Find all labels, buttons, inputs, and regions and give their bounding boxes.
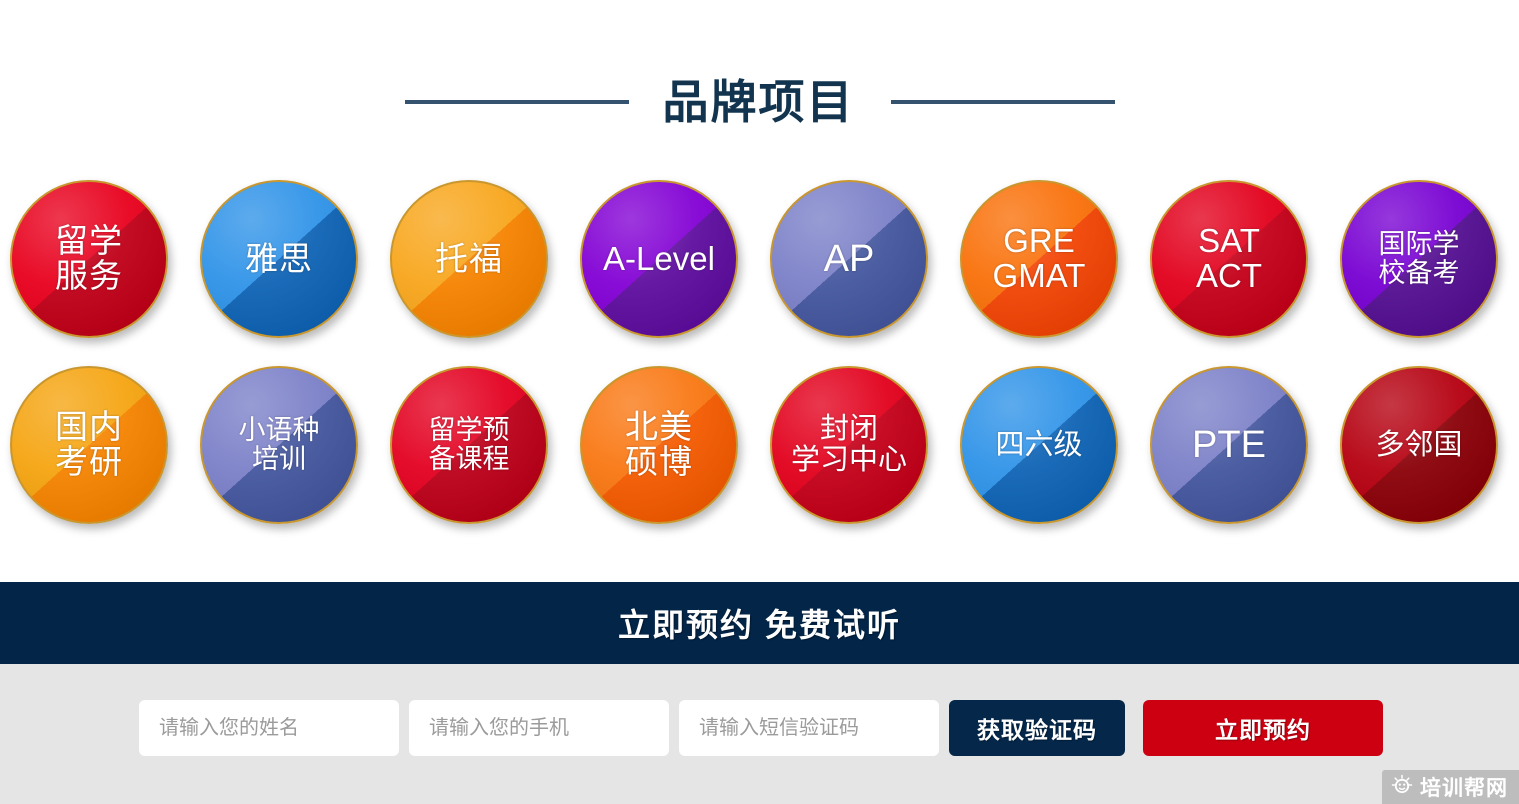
program-bubble: A-Level [580,180,738,338]
program-circle-study-abroad-foundation-course[interactable]: 留学预 备课程 [390,366,548,524]
program-circle-ap[interactable]: AP [770,180,928,338]
program-label: 北美 硕博 [625,410,693,480]
program-bubble: AP [770,180,928,338]
program-circle-international-school-prep[interactable]: 国际学 校备考 [1340,180,1498,338]
section-heading: 品牌项目 [0,66,1519,138]
cta-banner: 立即预约 免费试听 [0,582,1519,664]
program-row-1: 留学 服务雅思托福A-LevelAPGRE GMATSAT ACT国际学 校备考 [0,180,1519,338]
cta-banner-text: 立即预约 免费试听 [618,600,901,646]
program-label: GRE GMAT [993,224,1086,294]
program-bubble: 四六级 [960,366,1118,524]
submit-booking-button[interactable]: 立即预约 [1143,700,1383,756]
program-label: 封闭 学习中心 [772,414,926,475]
site-watermark: 培训帮网 [1382,770,1519,804]
program-label: 四六级 [995,430,1082,461]
heading-rule-left [405,100,629,104]
program-circle-toefl[interactable]: 托福 [390,180,548,338]
program-label: 多邻国 [1375,430,1462,461]
heading-rule-right [891,100,1115,104]
program-bubble: 国际学 校备考 [1340,180,1498,338]
program-label: PTE [1192,425,1266,465]
program-circle-sat-act[interactable]: SAT ACT [1150,180,1308,338]
program-bubble: 国内 考研 [10,366,168,524]
program-circle-closed-study-center[interactable]: 封闭 学习中心 [770,366,928,524]
program-circle-duolingo[interactable]: 多邻国 [1340,366,1498,524]
program-circle-study-abroad-service[interactable]: 留学 服务 [10,180,168,338]
program-bubble: SAT ACT [1150,180,1308,338]
program-label: AP [824,239,875,279]
program-label: 留学 服务 [55,224,123,294]
page-title: 品牌项目 [663,79,855,125]
name-input[interactable] [139,700,399,756]
program-label: 留学预 备课程 [429,416,510,473]
booking-form-strip: 获取验证码 立即预约 [0,664,1519,804]
phone-input[interactable] [409,700,669,756]
program-label: 托福 [435,242,503,277]
program-bubble: 北美 硕博 [580,366,738,524]
program-circle-pte[interactable]: PTE [1150,366,1308,524]
program-label: 国内 考研 [55,410,123,480]
program-bubble: 封闭 学习中心 [770,366,928,524]
program-row-2: 国内 考研小语种 培训留学预 备课程北美 硕博封闭 学习中心四六级PTE多邻国 [0,366,1519,524]
program-bubble: 留学预 备课程 [390,366,548,524]
sms-code-input[interactable] [679,700,939,756]
program-label: 雅思 [245,242,313,277]
program-bubble: GRE GMAT [960,180,1118,338]
program-circle-gre-gmat[interactable]: GRE GMAT [960,180,1118,338]
program-bubble: 留学 服务 [10,180,168,338]
program-label: 小语种 培训 [239,416,320,473]
program-bubble: 雅思 [200,180,358,338]
program-bubble: 多邻国 [1340,366,1498,524]
sun-face-icon [1391,774,1413,801]
program-circle-north-america-master-phd[interactable]: 北美 硕博 [580,366,738,524]
watermark-label: 培训帮网 [1420,772,1508,802]
program-bubble: 托福 [390,180,548,338]
program-circle-ielts[interactable]: 雅思 [200,180,358,338]
program-label: SAT ACT [1196,224,1262,294]
program-label: 国际学 校备考 [1379,230,1460,287]
get-sms-code-button[interactable]: 获取验证码 [949,700,1125,756]
program-label: A-Level [603,242,715,277]
program-bubble: PTE [1150,366,1308,524]
program-circle-a-level[interactable]: A-Level [580,180,738,338]
program-circle-minor-language-training[interactable]: 小语种 培训 [200,366,358,524]
program-bubble: 小语种 培训 [200,366,358,524]
program-circle-grid: 留学 服务雅思托福A-LevelAPGRE GMATSAT ACT国际学 校备考… [0,180,1519,524]
program-circle-domestic-postgraduate-exam[interactable]: 国内 考研 [10,366,168,524]
booking-form: 获取验证码 立即预约 [139,700,1383,756]
program-circle-cet-4-6[interactable]: 四六级 [960,366,1118,524]
